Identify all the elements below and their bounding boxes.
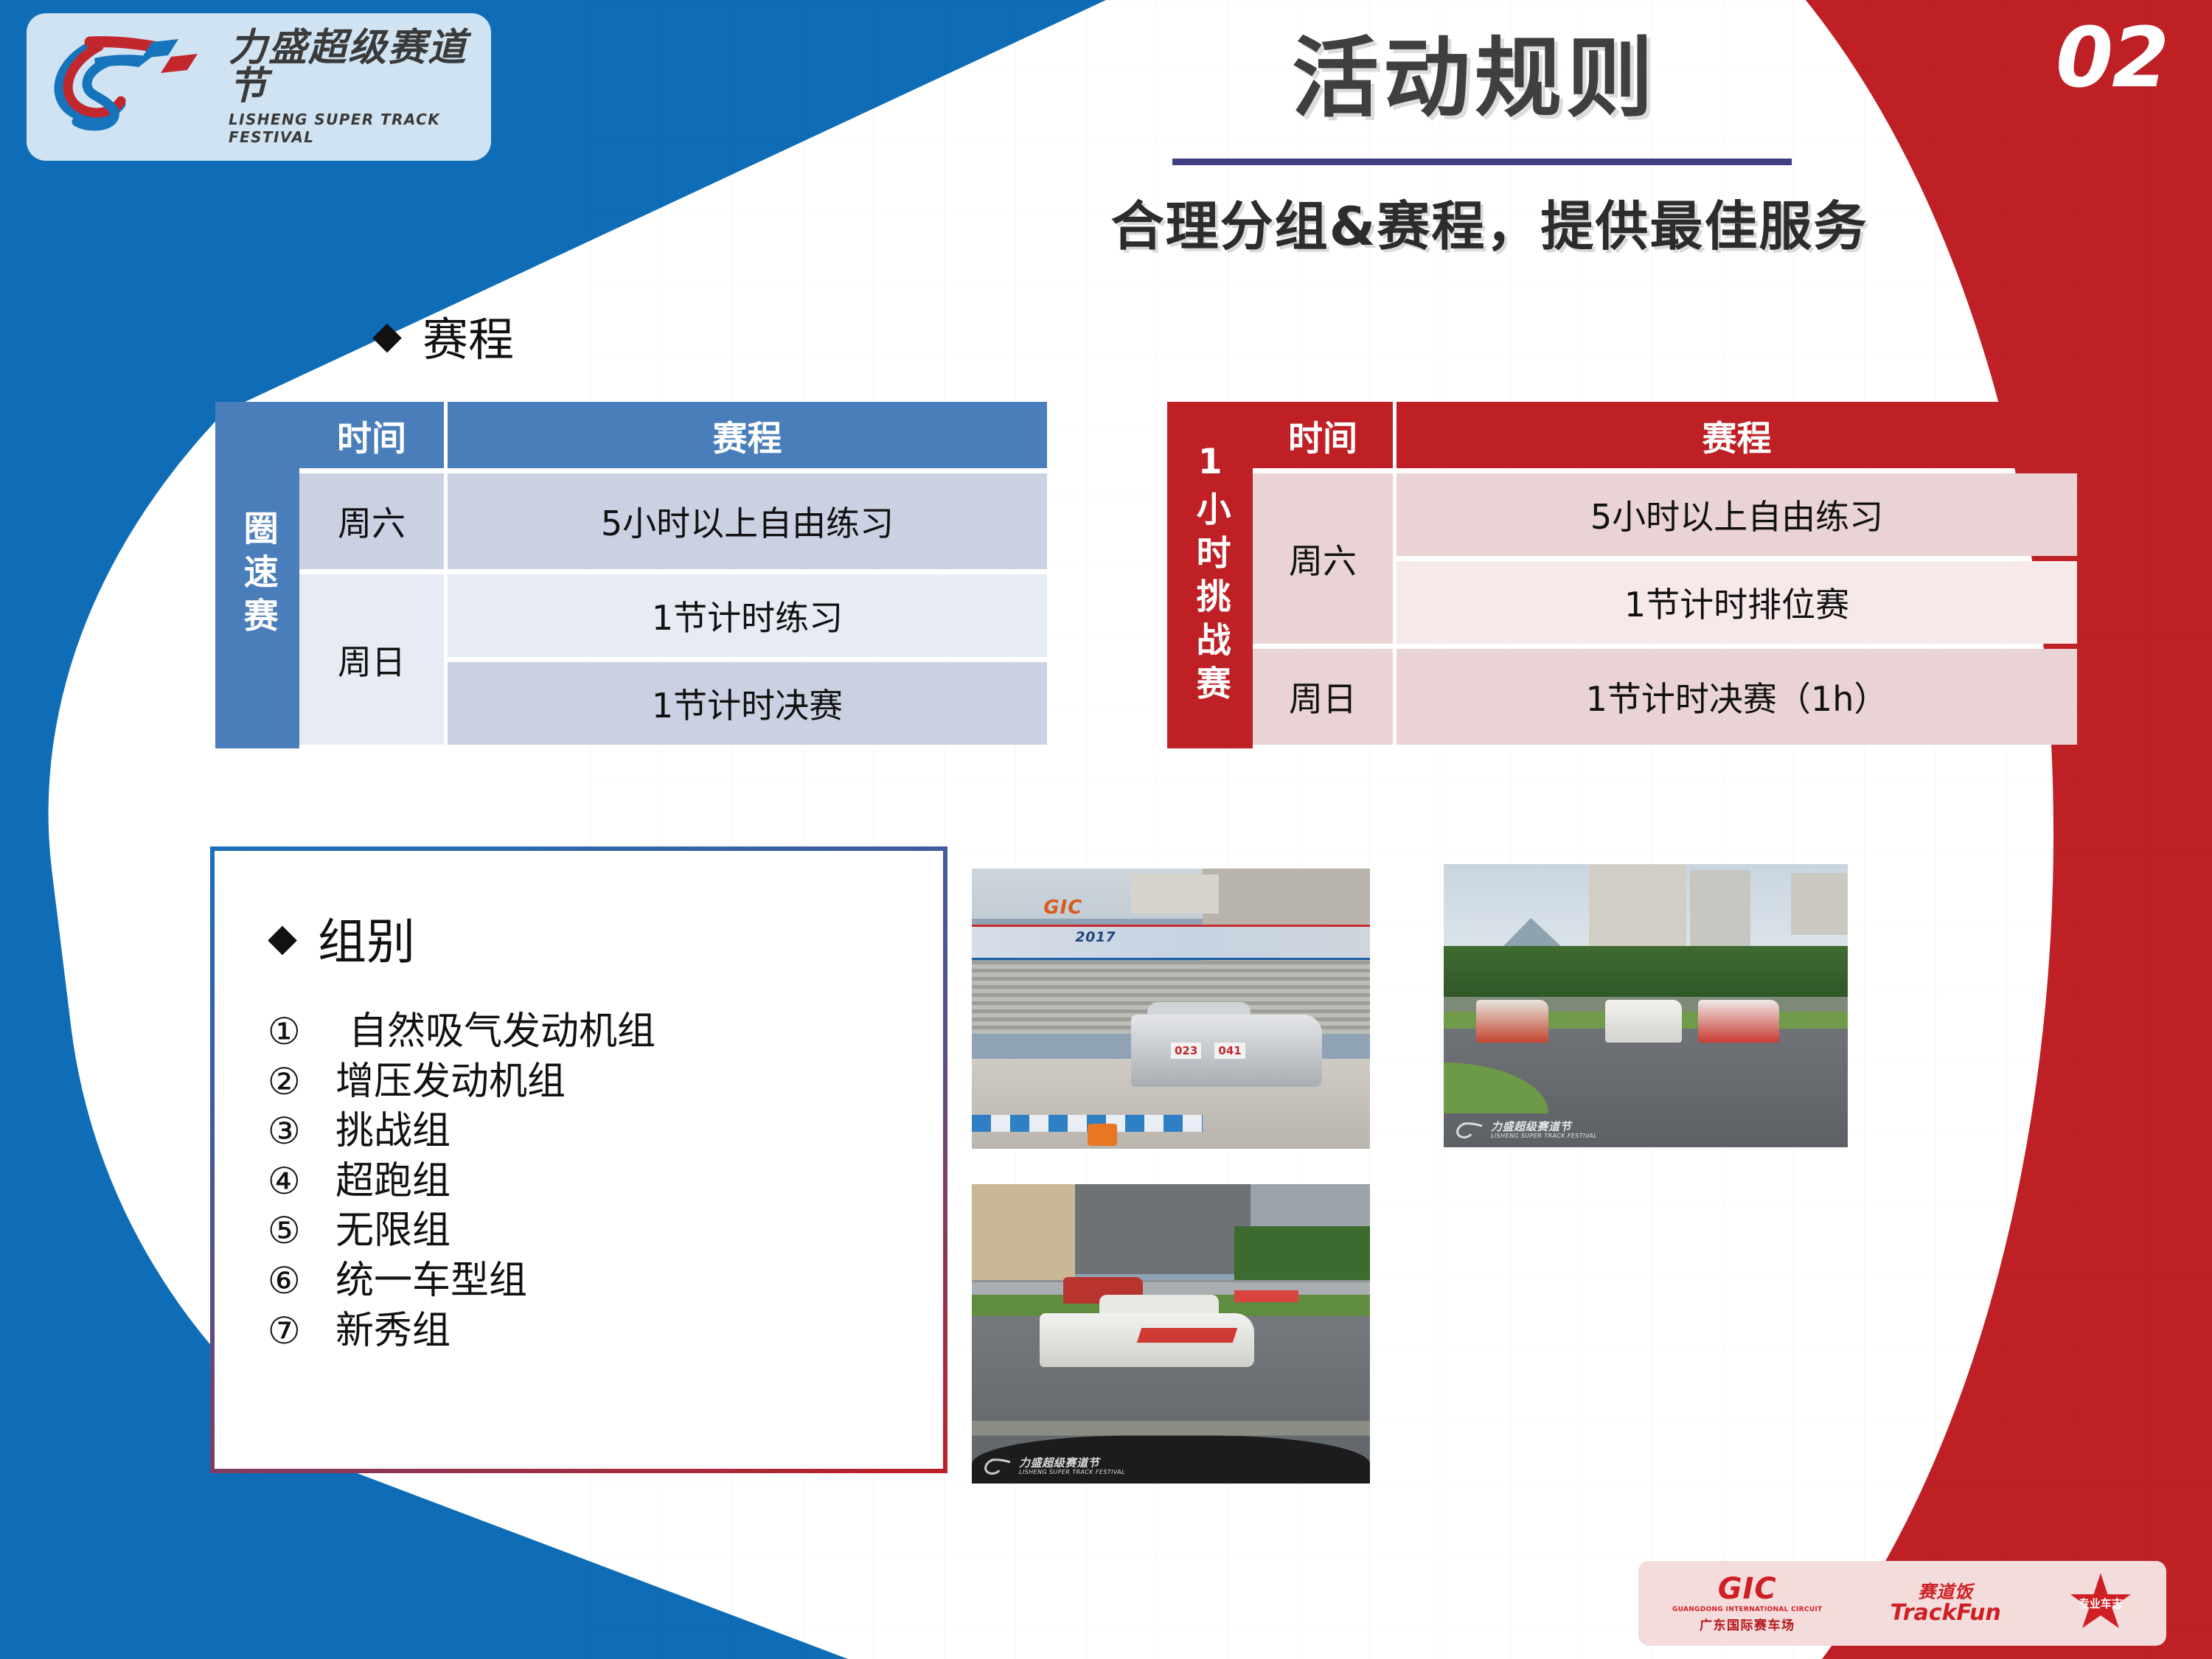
sponsor-logo-pro-car-journal: 专业车志 <box>2069 1573 2132 1634</box>
group-categories-inner: ◆ 组别 ①自然吸气发动机组 ②增压发动机组 ③挑战组 ④超跑组 ⑤无限组 ⑥统… <box>215 851 943 1469</box>
section-label-schedule: ◆ 赛程 <box>372 302 514 369</box>
diamond-bullet-icon: ◆ <box>372 316 402 355</box>
list-item-number: ④ <box>268 1158 335 1206</box>
list-item-number: ① <box>268 1008 335 1056</box>
col-header-time: 时间 <box>299 402 444 468</box>
list-item: ⑤无限组 <box>268 1206 943 1256</box>
footer-sponsor-bar: GIC GUANGDONG INTERNATIONAL CIRCUIT 广东国际… <box>1638 1561 2166 1646</box>
cell-event: 5小时以上自由练习 <box>1397 473 2077 556</box>
photo-car-number: 041 <box>1214 1043 1245 1059</box>
photo-gic-sign-text: GIC <box>1043 897 1082 919</box>
list-item-label: 自然吸气发动机组 <box>335 1007 655 1057</box>
group-categories-list: ①自然吸气发动机组 ②增压发动机组 ③挑战组 ④超跑组 ⑤无限组 ⑥统一车型组 … <box>268 1007 943 1356</box>
sponsor-gic-cn: 广东国际赛车场 <box>1700 1615 1795 1633</box>
photo-bmw-pitlane: GIC 2017 023 041 <box>972 869 1370 1149</box>
list-item: ③挑战组 <box>268 1107 943 1157</box>
section-label-text: 赛程 <box>422 302 514 369</box>
list-item-number: ③ <box>268 1107 335 1155</box>
list-item: ②增压发动机组 <box>268 1057 943 1107</box>
photo-race-car <box>1698 1000 1779 1043</box>
sponsor-logo-gic: GIC GUANGDONG INTERNATIONAL CIRCUIT 广东国际… <box>1672 1574 1822 1633</box>
group-categories-title: ◆ 组别 <box>268 902 943 973</box>
table-row: 周日 1节计时练习 1节计时决赛 <box>299 574 1047 745</box>
photo-building <box>1791 873 1848 935</box>
photo-traffic-cone <box>1088 1124 1117 1146</box>
list-item-label: 超跑组 <box>335 1157 451 1207</box>
logo-en-text: LISHENG SUPER TRACK FESTIVAL <box>229 111 491 146</box>
cell-event: 1节计时决赛（1h） <box>1397 649 2077 745</box>
table-row: 周六 5小时以上自由练习 <box>299 473 1047 569</box>
list-item: ⑥统一车型组 <box>268 1256 943 1307</box>
photo-race-car <box>1476 1000 1549 1043</box>
col-header-program: 赛程 <box>448 402 1047 468</box>
table-row: 周日 1节计时决赛（1h） <box>1253 649 2077 745</box>
photo-watermark-en: LISHENG SUPER TRACK FESTIVAL <box>1019 1470 1125 1475</box>
cell-time: 周日 <box>1253 649 1393 745</box>
page-title: 活动规则 <box>1194 7 1755 133</box>
page-subtitle: 合理分组&赛程，提供最佳服务 <box>966 183 2013 260</box>
logo-cn-text: 力盛超级赛道节 <box>229 29 491 105</box>
lisheng-watermark-icon <box>1454 1121 1485 1140</box>
col-header-program: 赛程 <box>1397 402 2077 468</box>
diamond-bullet-icon: ◆ <box>268 919 297 957</box>
photo-watermark-en: LISHENG SUPER TRACK FESTIVAL <box>1491 1133 1597 1139</box>
group-categories-box: ◆ 组别 ①自然吸气发动机组 ②增压发动机组 ③挑战组 ④超跑组 ⑤无限组 ⑥统… <box>210 846 947 1473</box>
cell-event: 1节计时练习 <box>448 574 1047 657</box>
photo-watermark-cn: 力盛超级赛道节 <box>1491 1120 1571 1133</box>
star-icon: 专业车志 <box>2069 1573 2132 1634</box>
photo-car-number: 023 <box>1171 1043 1201 1059</box>
sponsor-logo-trackfun: 赛道饭 TrackFun <box>1891 1583 2001 1624</box>
table-one-hour-challenge: 1小时挑战赛 时间 赛程 周六 5小时以上自由练习 1节计时排位赛 周日 1节计… <box>1167 402 2077 748</box>
photo-race-car <box>1605 1000 1682 1043</box>
col-header-time: 时间 <box>1253 402 1393 468</box>
photo-watermark: 力盛超级赛道节 LISHENG SUPER TRACK FESTIVAL <box>1454 1121 1597 1140</box>
photo-banner-year: 2017 <box>1075 929 1116 945</box>
cell-time: 周六 <box>299 473 444 569</box>
cell-time: 周六 <box>1253 473 1393 644</box>
table-one-hour-challenge-vertical-header: 1小时挑战赛 <box>1167 402 1253 748</box>
list-item-label: 挑战组 <box>335 1107 451 1157</box>
cell-time: 周日 <box>299 574 444 745</box>
photo-watermark-cn: 力盛超级赛道节 <box>1019 1456 1099 1470</box>
title-divider <box>1172 159 1792 165</box>
photo-three-hatchbacks: 力盛超级赛道节 LISHENG SUPER TRACK FESTIVAL <box>1444 864 1848 1147</box>
list-item-label: 增压发动机组 <box>335 1057 566 1107</box>
list-item: ①自然吸气发动机组 <box>268 1007 943 1057</box>
photo-building <box>1131 874 1219 914</box>
list-item: ⑦新秀组 <box>268 1307 943 1357</box>
table-lap-race-body: 时间 赛程 周六 5小时以上自由练习 周日 1节计时练习 1节计时决赛 <box>299 402 1047 748</box>
photo-kerb <box>972 1421 1370 1436</box>
list-item-number: ⑤ <box>268 1207 335 1255</box>
table-row-header: 时间 赛程 <box>299 402 1047 468</box>
slide-canvas: 力盛超级赛道节 LISHENG SUPER TRACK FESTIVAL 02 … <box>0 0 2212 1659</box>
photo-building <box>972 1184 1075 1286</box>
photo-building <box>1690 870 1750 955</box>
cell-event: 1节计时决赛 <box>448 662 1047 745</box>
sponsor-gic-en: GUANGDONG INTERNATIONAL CIRCUIT <box>1672 1606 1822 1613</box>
list-item-number: ② <box>268 1058 335 1106</box>
list-item-label: 统一车型组 <box>335 1256 527 1307</box>
cell-event-stack: 5小时以上自由练习 1节计时排位赛 <box>1397 473 2077 644</box>
table-lap-race-vertical-header: 圈速赛 <box>215 402 299 748</box>
photo-car-livery-stripe <box>1136 1328 1237 1343</box>
list-item-number: ⑦ <box>268 1307 335 1355</box>
sponsor-trackfun-cn: 赛道饭 <box>1918 1583 1973 1601</box>
photo-watermark: 力盛超级赛道节 LISHENG SUPER TRACK FESTIVAL <box>982 1457 1125 1476</box>
table-one-hour-challenge-body: 时间 赛程 周六 5小时以上自由练习 1节计时排位赛 周日 1节计时决赛（1h） <box>1253 402 2077 748</box>
table-row: 周六 5小时以上自由练习 1节计时排位赛 <box>1253 473 2077 644</box>
sponsor-pro-car-cn: 专业车志 <box>2079 1596 2123 1611</box>
sponsor-gic-mark: GIC <box>1718 1574 1777 1604</box>
cell-event: 5小时以上自由练习 <box>448 473 1047 569</box>
list-item-label: 无限组 <box>335 1206 451 1256</box>
list-item-number: ⑥ <box>268 1257 335 1305</box>
photo-trackside-banner <box>972 925 1370 960</box>
cell-event-stack: 1节计时练习 1节计时决赛 <box>448 574 1047 745</box>
cell-event: 1节计时排位赛 <box>1397 561 2077 644</box>
page-number: 02 <box>2056 10 2168 106</box>
group-categories-title-text: 组别 <box>318 902 415 973</box>
photo-rear-wing <box>1234 1290 1298 1302</box>
lisheng-track-icon <box>41 24 226 150</box>
table-lap-race: 圈速赛 时间 赛程 周六 5小时以上自由练习 周日 1节计时练习 1节计时决赛 <box>215 402 1047 748</box>
brand-logo: 力盛超级赛道节 LISHENG SUPER TRACK FESTIVAL <box>27 13 491 161</box>
photo-building <box>1075 1184 1251 1274</box>
list-item-label: 新秀组 <box>335 1307 451 1357</box>
list-item: ④超跑组 <box>268 1157 943 1207</box>
lisheng-watermark-icon <box>982 1457 1013 1476</box>
sponsor-trackfun-en: TrackFun <box>1891 1602 2001 1624</box>
photo-white-sedan: 008 力盛超级赛道节 LISHENG SUPER TRACK FESTIVAL <box>972 1184 1370 1484</box>
table-row-header: 时间 赛程 <box>1253 402 2077 468</box>
